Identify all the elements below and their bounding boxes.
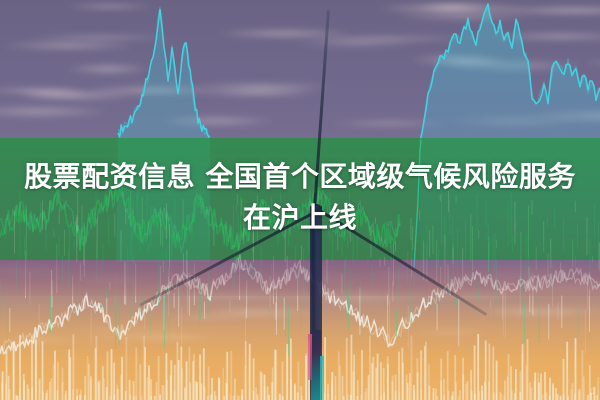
thumbnail-image: 股票配资信息 全国首个区域级气候风险服务在沪上线 0 [0, 0, 600, 400]
headline-text: 股票配资信息 全国首个区域级气候风险服务在沪上线 [0, 156, 600, 238]
watermark-label: 0 [590, 387, 595, 396]
